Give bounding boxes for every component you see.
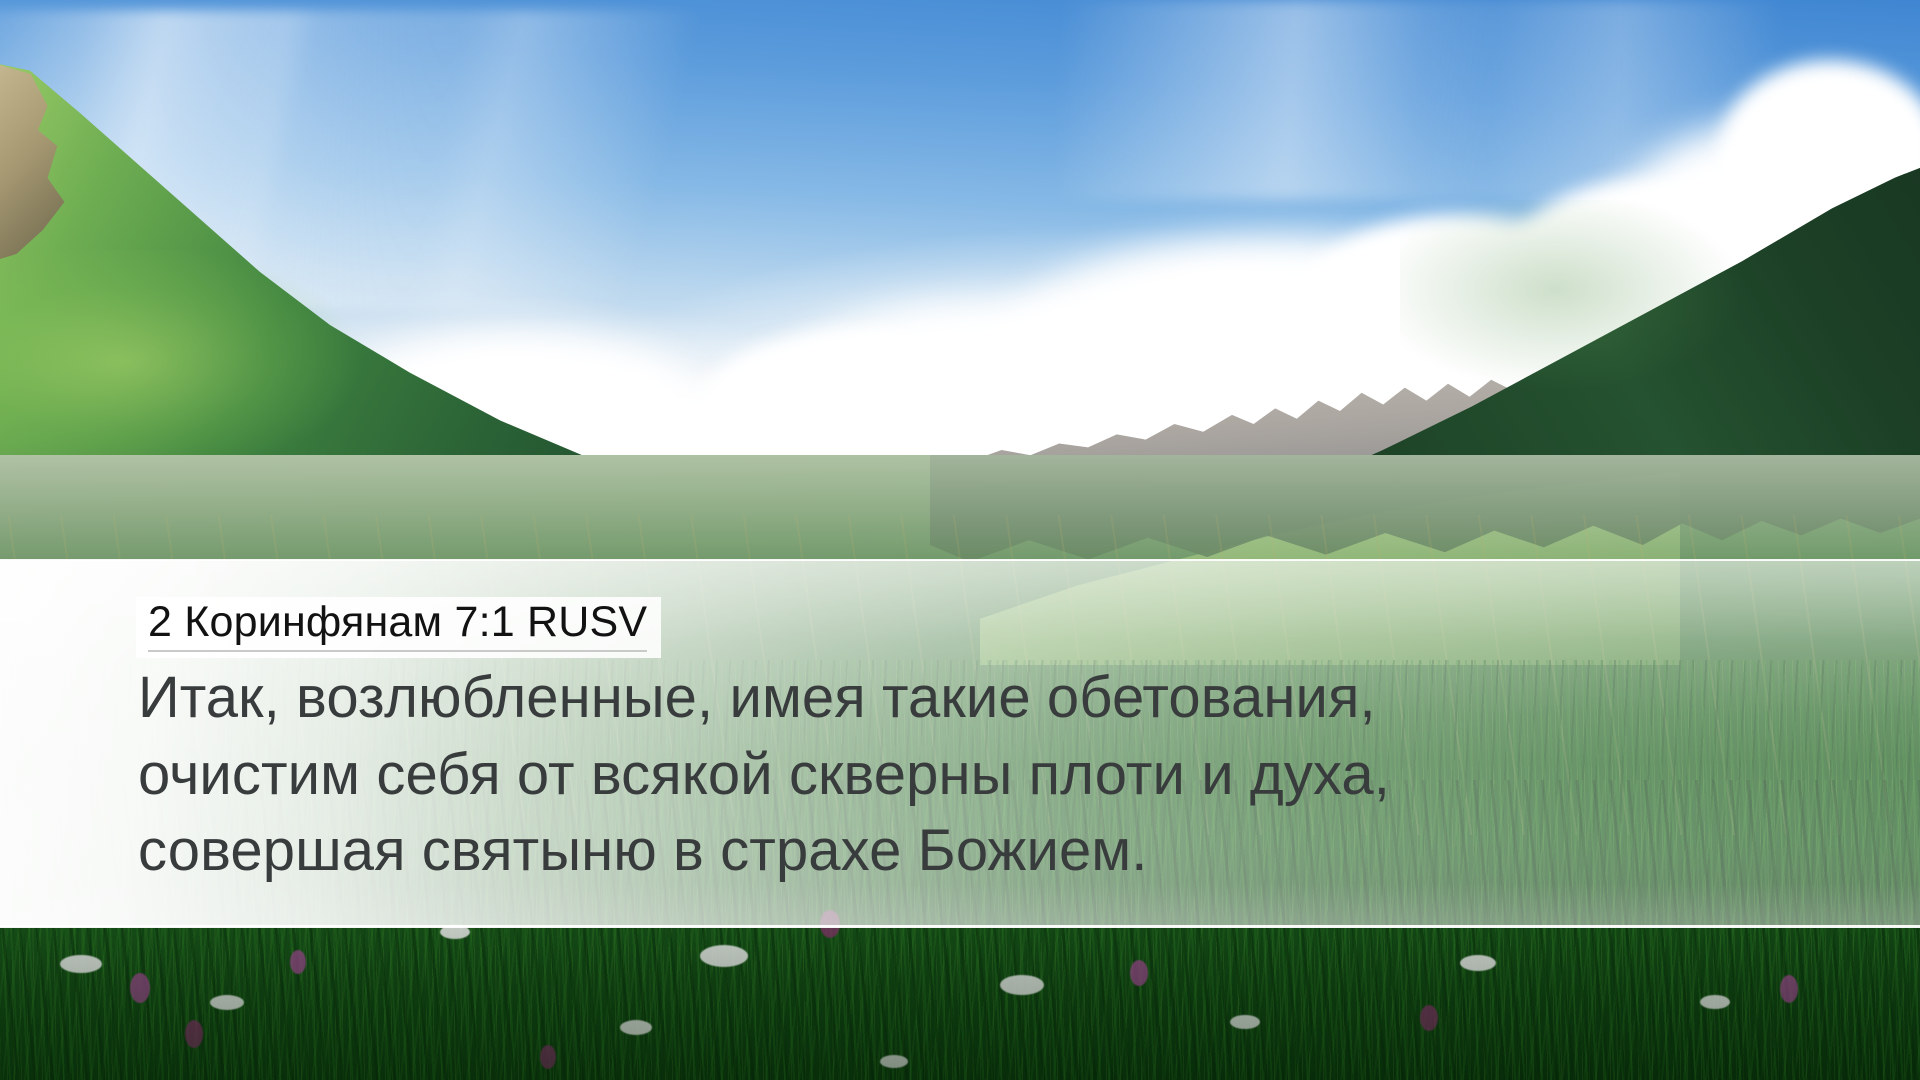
verse-text-container: 2 Коринфянам 7:1 RUSV Итак, возлюбленные… [0,560,1920,927]
verse-reference-box: 2 Коринфянам 7:1 RUSV [136,597,661,658]
verse-line-1: Итак, возлюбленные, имея такие обетовани… [138,660,1858,737]
verse-image-canvas: 2 Коринфянам 7:1 RUSV Итак, возлюбленные… [0,0,1920,1080]
verse-reference: 2 Коринфянам 7:1 RUSV [148,599,647,652]
verse-line-2: очистим себя от всякой скверны плоти и д… [138,737,1858,814]
verse-body: Итак, возлюбленные, имея такие обетовани… [138,660,1858,890]
verse-line-3: совершая святыню в страхе Божием. [138,813,1858,890]
